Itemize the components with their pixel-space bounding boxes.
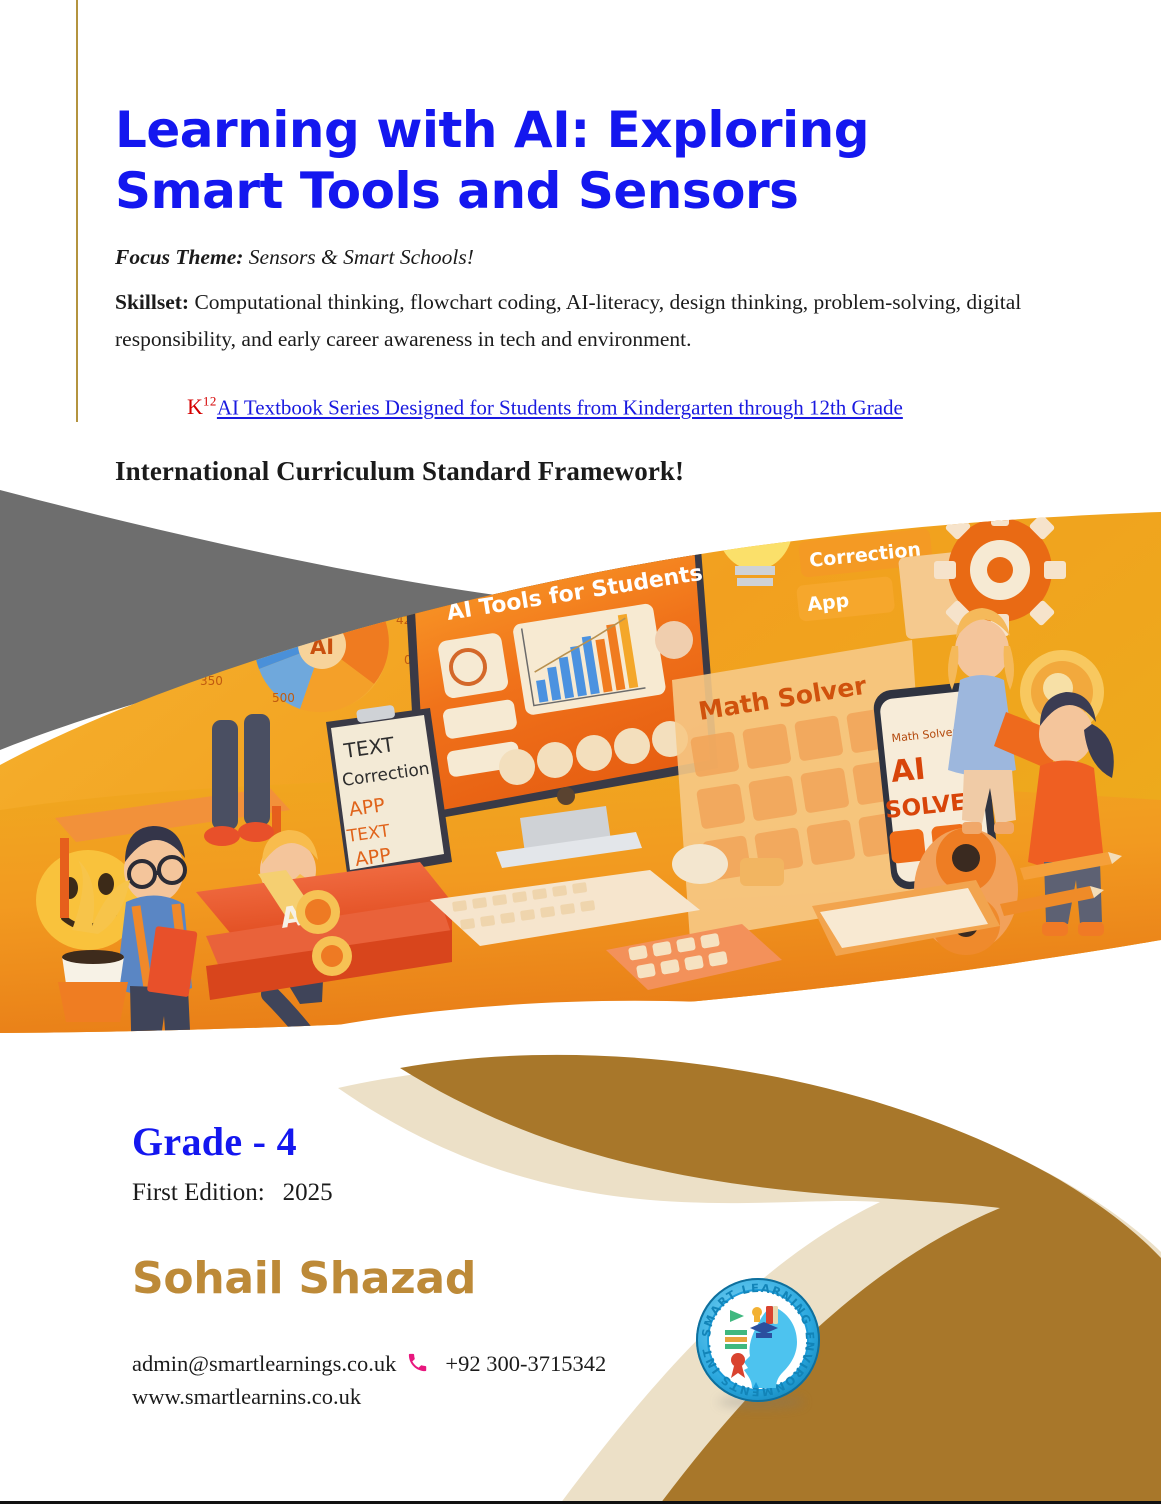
svg-text:AI: AI: [889, 752, 927, 790]
title-line-1: Learning with AI: Exploring: [115, 100, 1075, 161]
edition-year: 2025: [265, 1179, 333, 1206]
text-correction-clipboard: TEXT Correction APP TEXT APP: [326, 705, 452, 880]
author-name: Sohail Shazad: [132, 1253, 752, 1304]
phone-number[interactable]: +92 300-3715342: [445, 1348, 606, 1381]
series-tagline: K12AI Textbook Series Designed for Stude…: [115, 394, 1075, 420]
smart-learning-seal: SMART LEARNING ENVIRONMENTS INT.: [694, 1276, 822, 1404]
illustration-artwork: AI 350 500 010 420 AI Tools for Students: [0, 470, 1161, 1045]
cover-footer: Grade - 4 First Edition:2025 Sohail Shaz…: [132, 1118, 752, 1413]
skillset-label: Skillset:: [115, 290, 189, 314]
contact-block: admin@smartlearnings.co.uk +92 300-37153…: [132, 1348, 752, 1413]
grade-label: Grade - 4: [132, 1118, 752, 1165]
eraser-block: [740, 858, 784, 886]
gold-vertical-rule: [76, 0, 78, 422]
edition-line: First Edition:2025: [132, 1179, 752, 1207]
svg-text:Math Solver: Math Solver: [810, 493, 934, 527]
k12-letter: K: [187, 394, 203, 419]
edition-label: First Edition:: [132, 1179, 265, 1206]
focus-theme-line: Focus Theme: Sensors & Smart Schools!: [115, 244, 1075, 272]
cover-illustration: AI 350 500 010 420 AI Tools for Students: [0, 470, 1161, 1045]
mouse: [672, 844, 728, 884]
website-url[interactable]: www.smartlearnins.co.uk: [132, 1381, 752, 1414]
contact-row-email-phone: admin@smartlearnings.co.uk +92 300-37153…: [132, 1348, 752, 1381]
title-line-2: Smart Tools and Sensors: [115, 161, 1075, 222]
focus-theme-value: Sensors & Smart Schools!: [249, 245, 474, 269]
k12-mark: K12: [187, 394, 217, 419]
cover-header: Learning with AI: Exploring Smart Tools …: [115, 100, 1075, 487]
k12-superscript: 12: [203, 394, 217, 409]
skillset-line: Skillset: Computational thinking, flowch…: [115, 284, 1045, 358]
book-cover-page: Learning with AI: Exploring Smart Tools …: [0, 0, 1161, 1504]
email-address[interactable]: admin@smartlearnings.co.uk: [132, 1348, 396, 1381]
focus-theme-label: Focus Theme:: [115, 245, 243, 269]
page-title: Learning with AI: Exploring Smart Tools …: [115, 100, 1075, 222]
svg-text:App: App: [806, 590, 850, 616]
series-link-text[interactable]: AI Textbook Series Designed for Students…: [217, 395, 903, 419]
skillset-value: Computational thinking, flowchart coding…: [115, 290, 1021, 351]
svg-text:500: 500: [272, 691, 295, 705]
seal-graphic: SMART LEARNING ENVIRONMENTS INT.: [694, 1276, 822, 1404]
phone-icon: [406, 1351, 429, 1379]
